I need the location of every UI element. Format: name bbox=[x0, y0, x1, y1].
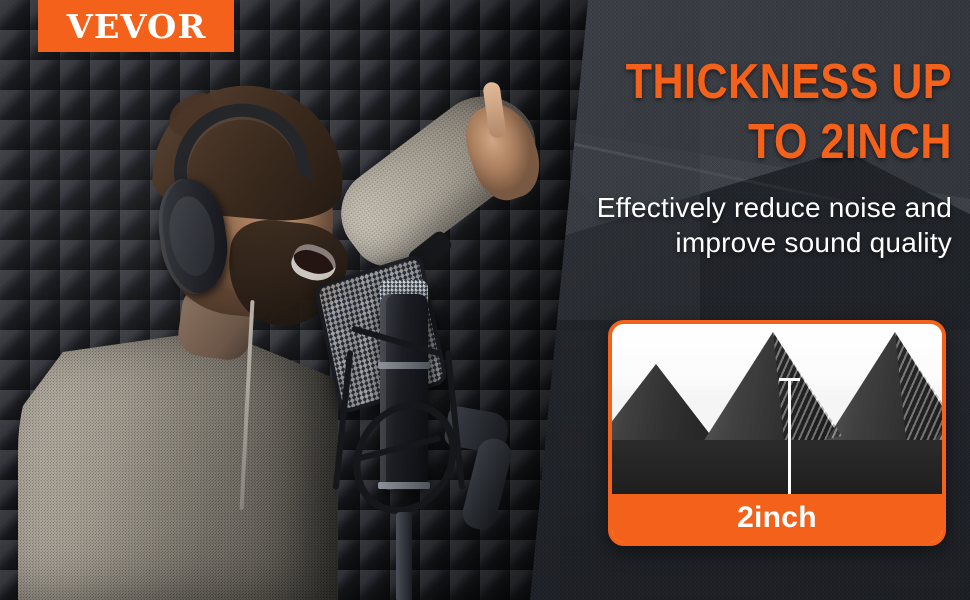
headline-line-1: THICKNESS UP bbox=[582, 52, 952, 112]
measure-line-icon bbox=[788, 378, 791, 500]
microphone-stand bbox=[396, 512, 412, 600]
foam-pyramid-1 bbox=[612, 364, 722, 450]
subheadline-line-1: Effectively reduce noise and bbox=[532, 190, 952, 225]
product-feature-banner: VEVOR THICKNESS UP TO 2INCH Effectively … bbox=[0, 0, 970, 600]
subheadline-line-2: improve sound quality bbox=[532, 225, 952, 260]
torso-sweater bbox=[18, 330, 338, 600]
thickness-label: 2inch bbox=[612, 494, 942, 542]
microphone-ring-top bbox=[378, 362, 430, 369]
brand-logo-text: VEVOR bbox=[66, 7, 206, 46]
brand-logo-badge: VEVOR bbox=[38, 0, 234, 52]
mic-boom-arm bbox=[459, 435, 514, 532]
foam-profile-photo bbox=[612, 324, 942, 502]
marketing-copy-block: THICKNESS UP TO 2INCH Effectively reduce… bbox=[532, 52, 952, 260]
singer-photo bbox=[0, 0, 620, 600]
foam-base-layer bbox=[612, 440, 942, 502]
shock-mount-ring bbox=[346, 402, 464, 514]
subheadline: Effectively reduce noise and improve sou… bbox=[532, 190, 952, 260]
headline-line-2: TO 2INCH bbox=[582, 112, 952, 172]
product-detail-card: 2inch bbox=[608, 320, 946, 546]
studio-microphone-assembly bbox=[320, 250, 520, 600]
